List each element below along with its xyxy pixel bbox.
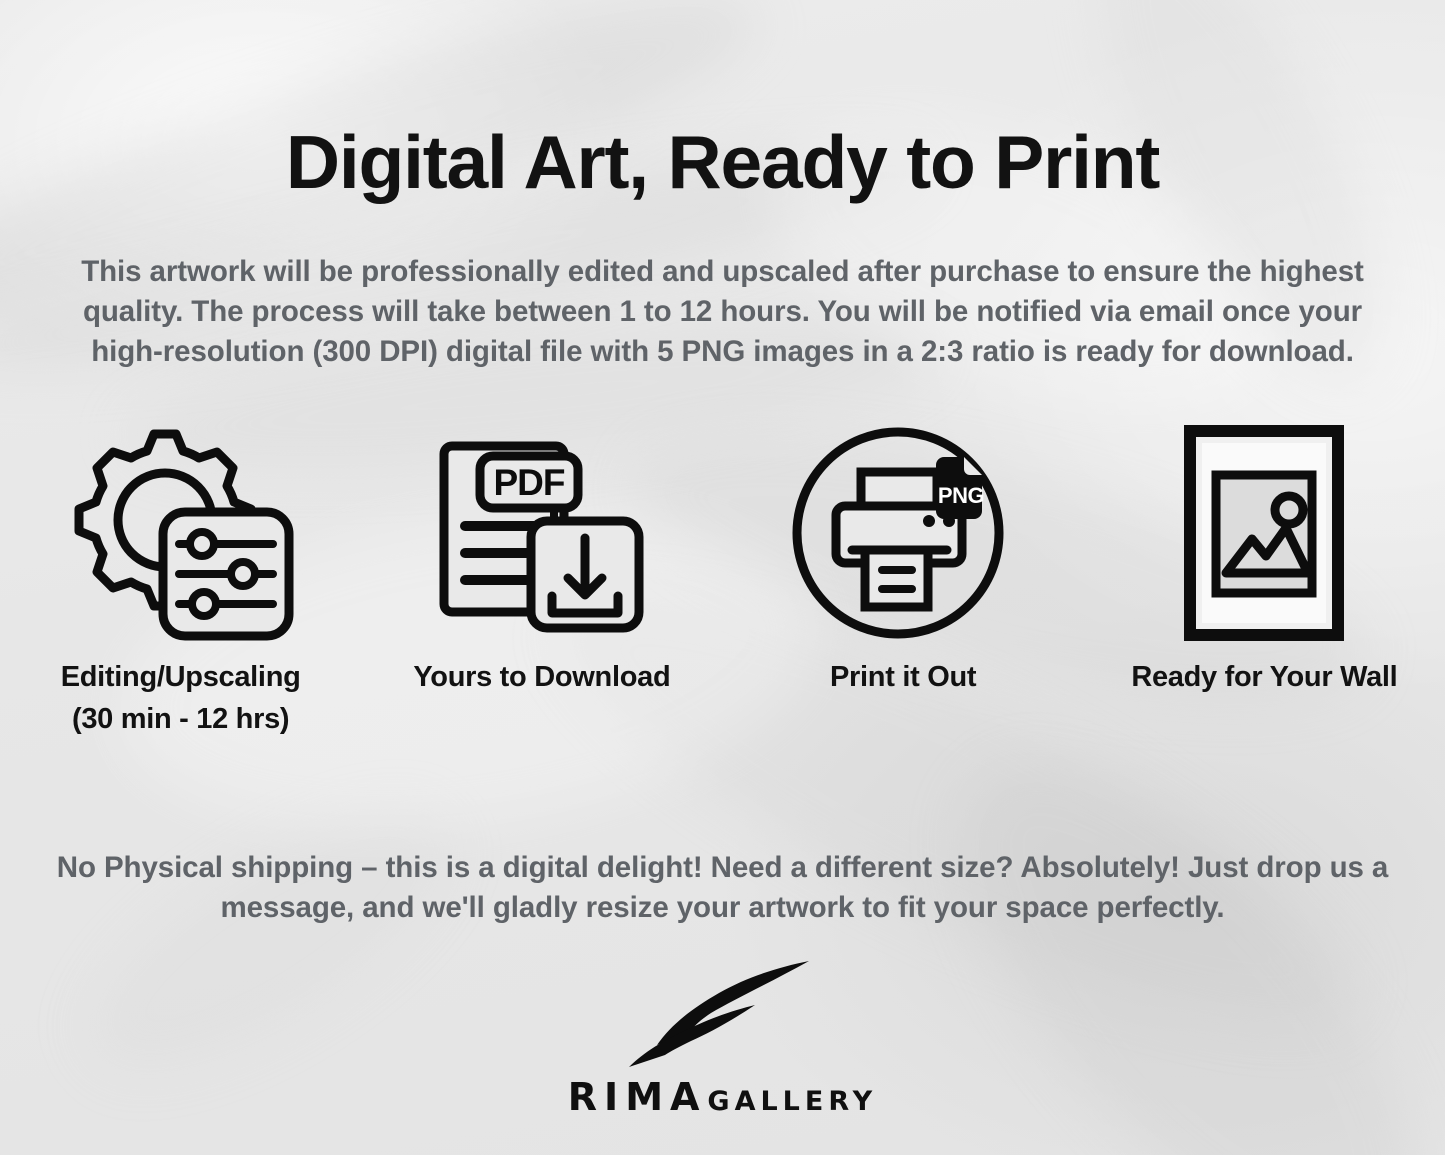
brand-logo: RIMA GALLERY (0, 955, 1445, 1119)
feature-label: Print it Out (830, 656, 976, 698)
feature-item-editing-upscaling: Editing/Upscaling (30 min - 12 hrs) (0, 415, 361, 765)
intro-paragraph: This artwork will be professionally edit… (50, 252, 1395, 372)
svg-text:PDF: PDF (494, 462, 565, 503)
logo-word-secondary: GALLERY (707, 1086, 877, 1117)
gear-sliders-icon (65, 415, 297, 650)
framed-picture-icon (1184, 415, 1344, 650)
logo-wordmark: RIMA GALLERY (568, 1075, 877, 1119)
outro-paragraph: No Physical shipping – this is a digital… (45, 848, 1400, 928)
listing-info-card: Digital Art, Ready to Print This artwork… (0, 0, 1445, 1155)
pdf-download-icon: PDF (434, 415, 649, 650)
feature-item-wall: Ready for Your Wall (1084, 415, 1445, 765)
page-title: Digital Art, Ready to Print (0, 123, 1445, 202)
svg-text:PNG: PNG (938, 483, 984, 508)
feature-label: Ready for Your Wall (1131, 656, 1397, 698)
feature-row: Editing/Upscaling (30 min - 12 hrs) PDF (0, 415, 1445, 765)
logo-word-primary: RIMA (568, 1075, 707, 1119)
feature-label: Yours to Download (413, 656, 670, 698)
double-swoosh-icon (613, 955, 833, 1073)
feature-item-download: PDF Yours to Download (361, 415, 722, 765)
printer-circle-icon: PNG (792, 415, 1014, 650)
feature-item-print: PNG Print it Out (723, 415, 1084, 765)
feature-label: Editing/Upscaling (30 min - 12 hrs) (61, 656, 301, 740)
